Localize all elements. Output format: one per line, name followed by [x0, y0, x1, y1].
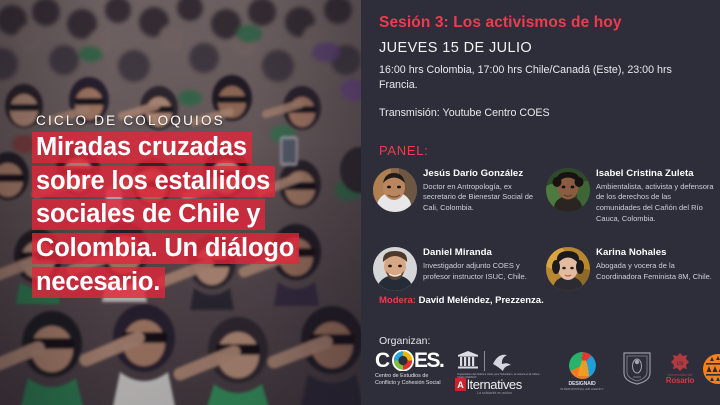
- unesco-temple-icon: [457, 351, 479, 371]
- unesco-logo: Organisation des Nations Unies pour l'éd…: [457, 351, 543, 380]
- alternatives-wordmark: lternatives: [467, 377, 522, 392]
- universidad-shield-logo: [621, 351, 653, 390]
- university-shield-icon: [621, 351, 653, 385]
- unesco-emblem-icon: [490, 351, 514, 371]
- panelist-name: Isabel Cristina Zuleta: [596, 168, 715, 180]
- orange-seal-logo: [703, 354, 720, 384]
- panelist-info: Daniel Miranda Investigador adjunto COES…: [417, 245, 542, 291]
- avatar-portrait-karina: [546, 247, 590, 291]
- panelist-row: Daniel Miranda Investigador adjunto COES…: [373, 245, 719, 291]
- svg-text:UR: UR: [677, 362, 685, 367]
- title-line: Colombia. Un diálogo: [32, 232, 352, 266]
- coes-tagline: Centro de Estudios de Conflicto y Cohesi…: [375, 373, 447, 388]
- panelist-name: Jesús Darío González: [423, 168, 542, 180]
- coes-wordmark: C ES.: [375, 350, 447, 371]
- unesco-divider: [484, 351, 485, 371]
- designaid-ball-icon: [569, 352, 596, 379]
- panelist-description: Investigador adjunto COES y profesor ins…: [423, 261, 542, 282]
- broadcast-info: Transmisión: Youtube Centro COES: [379, 107, 550, 119]
- event-date: JUEVES 15 DE JULIO: [379, 40, 532, 56]
- title-line: necesario.: [32, 266, 352, 300]
- alternatives-slogan: La solidarité en action: [477, 391, 512, 395]
- panel-heading: PANEL:: [379, 143, 428, 158]
- session-title: Sesión 3: Los activismos de hoy: [379, 14, 622, 32]
- svg-text:ES.: ES.: [414, 350, 444, 371]
- kicker-text: CICLO DE COLOQUIOS: [36, 113, 225, 128]
- alternatives-mark: A: [455, 378, 466, 391]
- panelist-card: Jesús Darío González Doctor en Antropolo…: [373, 166, 546, 224]
- panelist-row: Jesús Darío González Doctor en Antropolo…: [373, 166, 719, 224]
- moderator-name: David Meléndez, Prezzenza.: [419, 295, 544, 306]
- coes-letters: C ES.: [375, 350, 447, 371]
- panelist-info: Isabel Cristina Zuleta Ambientalista, ac…: [590, 166, 715, 224]
- poster-root: CICLO DE COLOQUIOS Miradas cruzadas sobr…: [0, 0, 720, 405]
- event-times: 16:00 hrs Colombia, 17:00 hrs Chile/Cana…: [379, 63, 709, 93]
- panelist-description: Doctor en Antropología, ex secretario de…: [423, 182, 542, 214]
- panelist-card: Daniel Miranda Investigador adjunto COES…: [373, 245, 546, 291]
- panelist-info: Jesús Darío González Doctor en Antropolo…: [417, 166, 542, 224]
- designaid-circle-icon: [569, 352, 596, 379]
- title-line: Miradas cruzadas: [32, 131, 352, 165]
- main-title: Miradas cruzadas sobre los estallidos so…: [32, 131, 352, 299]
- moderator-label: Modera:: [379, 295, 416, 306]
- rosario-crest-icon: UR: [669, 352, 691, 372]
- alternatives-logo: A lternatives La solidarité en action: [455, 377, 522, 392]
- avatar-portrait-jesus: [373, 168, 417, 212]
- panelist-name: Karina Nohales: [596, 247, 715, 259]
- panelist-card: Karina Nohales Abogada y vocera de la Co…: [546, 245, 719, 291]
- designaid-logo: DESIGNAID INTERNATIONAL AID AGENCY: [551, 352, 613, 391]
- panelist-name: Daniel Miranda: [423, 247, 542, 259]
- panelist-info: Karina Nohales Abogada y vocera de la Co…: [590, 245, 715, 291]
- orange-seal-icon: [703, 354, 720, 384]
- avatar: [546, 168, 590, 212]
- coes-logo: C ES. Centro de Estudios de Conflicto y …: [375, 350, 447, 388]
- organizers-label: Organizan:: [379, 335, 430, 347]
- title-line: sociales de Chile y: [32, 198, 352, 232]
- info-panel: Sesión 3: Los activismos de hoy JUEVES 1…: [361, 0, 720, 405]
- unesco-marks: [457, 351, 543, 371]
- panelist-grid: Jesús Darío González Doctor en Antropolo…: [373, 166, 719, 291]
- rosario-wordmark: Rosario: [658, 377, 702, 385]
- svg-text:C: C: [375, 350, 390, 371]
- panelist-card: Isabel Cristina Zuleta Ambientalista, ac…: [546, 166, 719, 224]
- avatar-portrait-daniel: [373, 247, 417, 291]
- avatar: [546, 247, 590, 291]
- panelist-description: Abogada y vocera de la Coordinadora Femi…: [596, 261, 715, 282]
- panelist-description: Ambientalista, activista y defensora de …: [596, 182, 715, 225]
- avatar: [373, 168, 417, 212]
- title-line: sobre los estallidos: [32, 165, 352, 199]
- moderator-line: Modera: David Meléndez, Prezzenza.: [379, 295, 544, 306]
- avatar: [373, 247, 417, 291]
- universidad-del-rosario-logo: UR Universidad del Rosario: [658, 352, 702, 385]
- organizer-logos: C ES. Centro de Estudios de Conflicto y …: [373, 350, 720, 398]
- designaid-subtitle: INTERNATIONAL AID AGENCY: [551, 387, 613, 391]
- avatar-portrait-isabel: [546, 168, 590, 212]
